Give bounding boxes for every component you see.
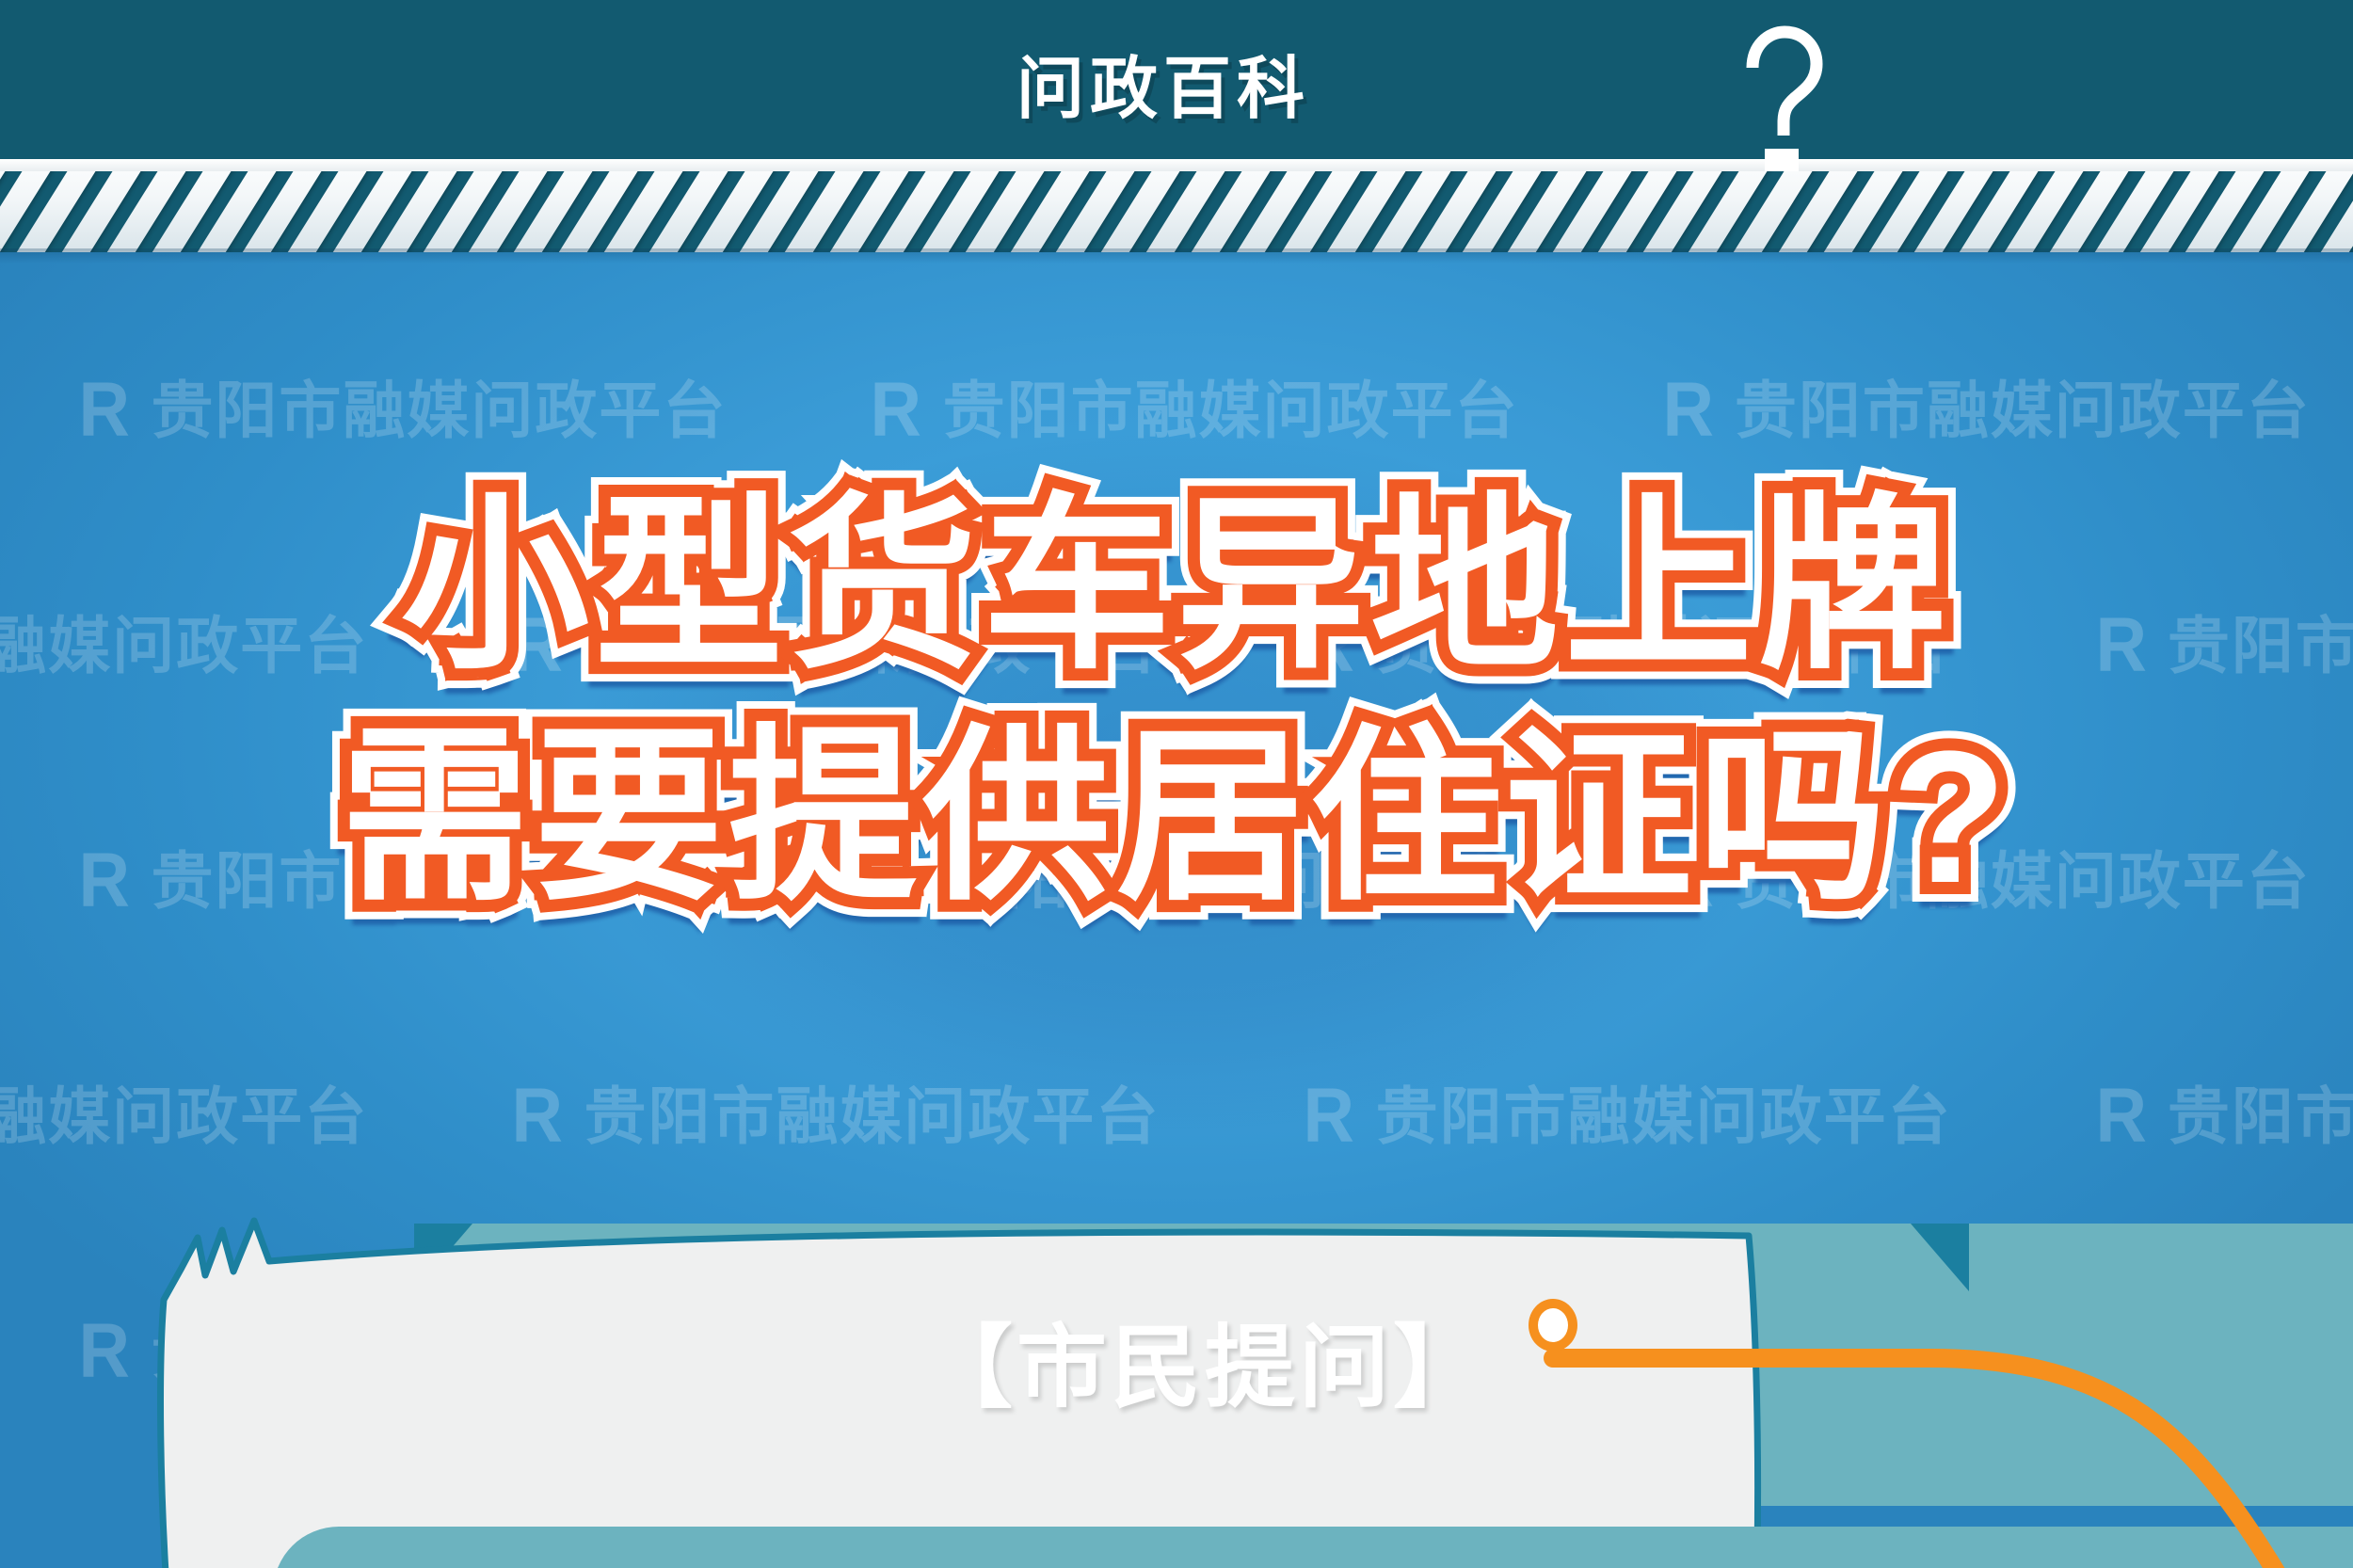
watermark-logo-icon: R [512, 1078, 565, 1155]
watermark-unit: R贵阳市融媒问政平台 [2093, 1078, 2353, 1155]
title-line-2-fill: 需要提供居住证吗? [341, 712, 2012, 922]
page-title: 问政百科 [1016, 33, 1310, 132]
main-title: 小型货车异地上牌 小型货车异地上牌 小型货车异地上牌 小型货车异地上牌 需要提供… [0, 471, 2353, 934]
header-divider-line [0, 159, 2353, 171]
watermark-text: 贵阳市融媒问政平台 [0, 1085, 368, 1147]
watermark-unit: R贵阳市融媒问政平台 [509, 1078, 1160, 1155]
watermark-row: R贵阳市融媒问政平台R贵阳市融媒问政平台R贵阳市融媒问政平台R贵阳市融媒问政平台… [0, 372, 2353, 449]
watermark-unit: R贵阳市融媒问政平台 [868, 372, 1518, 449]
question-mark-dot-notch [1765, 149, 1799, 173]
watermark-unit: R贵阳市融媒问政平台 [1660, 372, 2311, 449]
title-line-2: 需要提供居住证吗? 需要提供居住证吗? 需要提供居住证吗? 需要提供居住证吗? [0, 702, 2353, 934]
watermark-unit: R贵阳市融媒问政平台 [0, 1078, 368, 1155]
watermark-text: 贵阳市融媒问政平台 [1735, 379, 2311, 441]
watermark-unit: R贵阳市融媒问政平台 [76, 372, 727, 449]
watermark-unit: R贵阳市融媒问政平台 [1301, 1078, 1951, 1155]
poster-stage: R贵阳市融媒问政平台R贵阳市融媒问政平台R贵阳市融媒问政平台R贵阳市融媒问政平台… [0, 0, 2353, 1568]
connector-dot [1529, 1299, 1577, 1352]
title-line-1-fill: 小型货车异地上牌 [401, 481, 1952, 691]
watermark-text: 贵阳市融媒问政平台 [1376, 1085, 1952, 1147]
question-mark-icon [1739, 21, 1826, 162]
watermark-logo-icon: R [1304, 1078, 1356, 1155]
watermark-logo-icon: R [871, 372, 923, 449]
watermark-text: 贵阳市融媒问政平台 [2168, 1085, 2353, 1147]
header-bar: 问政百科 [0, 0, 2353, 174]
title-line-1: 小型货车异地上牌 小型货车异地上牌 小型货车异地上牌 小型货车异地上牌 [0, 471, 2353, 702]
watermark-row: R贵阳市融媒问政平台R贵阳市融媒问政平台R贵阳市融媒问政平台R贵阳市融媒问政平台… [0, 1078, 2353, 1155]
watermark-logo-icon: R [79, 372, 132, 449]
diagonal-stripe-band [0, 171, 2353, 252]
watermark-logo-icon: R [1662, 372, 1715, 449]
panel-corner-right [1911, 1224, 1969, 1291]
watermark-text: 贵阳市融媒问政平台 [943, 379, 1519, 441]
question-panel-label: 【市民提问】 [922, 1294, 1487, 1425]
orange-connector-line [1534, 1332, 2344, 1568]
watermark-logo-icon: R [2095, 1078, 2148, 1155]
watermark-text: 贵阳市融媒问政平台 [584, 1085, 1160, 1147]
stripe-band-shadow [0, 248, 2353, 264]
watermark-text: 贵阳市融媒问政平台 [151, 379, 727, 441]
